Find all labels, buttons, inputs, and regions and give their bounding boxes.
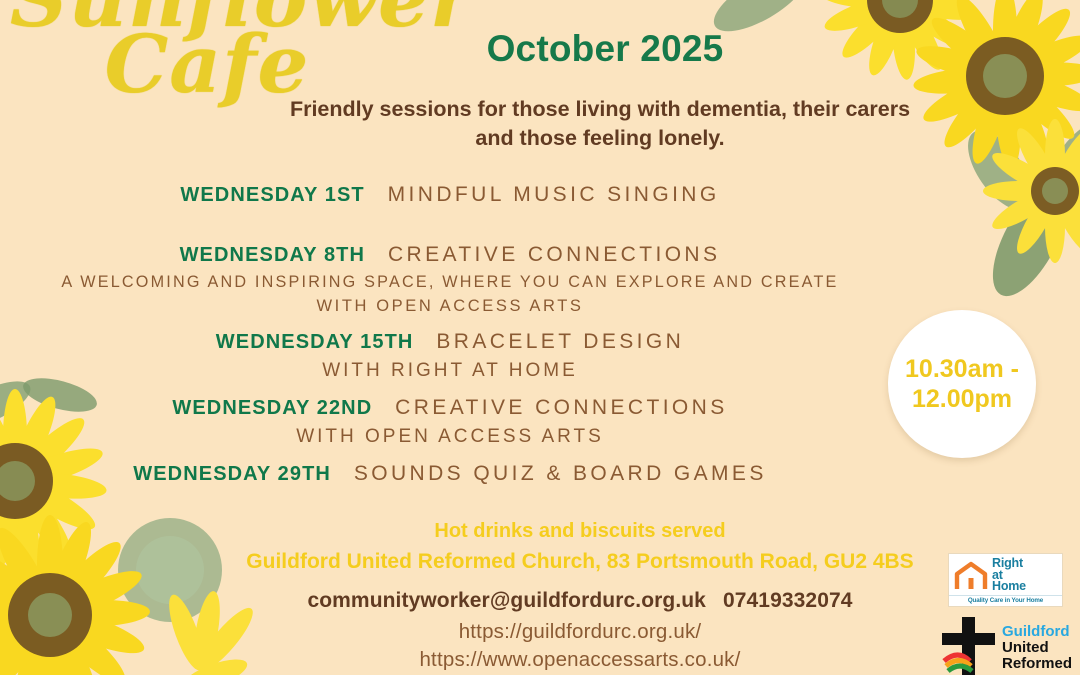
schedule-event: CREATIVE CONNECTIONS <box>388 243 720 266</box>
schedule-subline: WITH OPEN ACCESS ARTS <box>0 297 900 316</box>
urc-line-guildford: Guildford <box>1002 624 1072 640</box>
schedule-event: SOUNDS QUIZ & BOARD GAMES <box>354 462 767 485</box>
sunflower-bloom-b <box>912 0 1080 169</box>
contact-line: communityworker@guildfordurc.org.uk07419… <box>220 589 940 613</box>
schedule-item: WEDNESDAY 29TH SOUNDS QUIZ & BOARD GAMES <box>0 462 900 486</box>
schedule-headline: WEDNESDAY 15TH BRACELET DESIGN <box>0 330 900 354</box>
schedule-item: WEDNESDAY 15TH BRACELET DESIGN WITH RIGH… <box>0 330 900 382</box>
email-link[interactable]: communityworker@guildfordurc.org.uk <box>307 589 706 612</box>
schedule-item: WEDNESDAY 22ND CREATIVE CONNECTIONS WITH… <box>0 396 900 448</box>
schedule-headline: WEDNESDAY 1ST MINDFUL MUSIC SINGING <box>0 183 900 207</box>
urc-wordmark: Guildford United Reformed <box>1002 617 1072 672</box>
venue-address: Guildford United Reformed Church, 83 Por… <box>200 550 960 574</box>
schedule-event: MINDFUL MUSIC SINGING <box>388 183 720 206</box>
schedule-item: WEDNESDAY 1ST MINDFUL MUSIC SINGING <box>0 183 900 207</box>
schedule-day: WEDNESDAY 22ND <box>172 397 372 419</box>
schedule-headline: WEDNESDAY 22ND CREATIVE CONNECTIONS <box>0 396 900 420</box>
right-at-home-wordmark: Right at Home <box>992 558 1026 593</box>
time-line-1: 10.30am - <box>905 354 1019 385</box>
schedule-day: WEDNESDAY 29TH <box>133 463 331 485</box>
schedule-subline: WITH OPEN ACCESS ARTS <box>0 426 900 448</box>
schedule-item: WEDNESDAY 8TH CREATIVE CONNECTIONS A WEL… <box>0 243 900 316</box>
website-link-openaccessarts[interactable]: https://www.openaccessarts.co.uk/ <box>200 648 960 672</box>
website-link-urc[interactable]: https://guildfordurc.org.uk/ <box>200 620 960 644</box>
house-icon <box>954 561 988 591</box>
schedule-event: BRACELET DESIGN <box>436 330 684 353</box>
logo-guildford-urc: Guildford United Reformed <box>940 617 1080 675</box>
schedule-headline: WEDNESDAY 8TH CREATIVE CONNECTIONS <box>0 243 900 267</box>
schedule-day: WEDNESDAY 15TH <box>216 331 414 353</box>
schedule-headline: WEDNESDAY 29TH SOUNDS QUIZ & BOARD GAMES <box>0 462 900 486</box>
phone-number[interactable]: 07419332074 <box>723 589 853 612</box>
schedule-day: WEDNESDAY 1ST <box>180 184 364 206</box>
logo-right-at-home: Right at Home Quality Care in Your Home <box>948 553 1063 607</box>
month-heading: October 2025 <box>430 28 780 70</box>
session-time-badge: 10.30am - 12.00pm <box>888 310 1036 458</box>
tagline-text: Friendly sessions for those living with … <box>280 95 920 152</box>
urc-line-united: United <box>1002 640 1072 656</box>
page-title: Sunflower Cafe <box>10 0 440 97</box>
schedule-event: CREATIVE CONNECTIONS <box>395 396 727 419</box>
rah-word-home: Home <box>992 581 1026 593</box>
schedule-subline: WITH RIGHT AT HOME <box>0 360 900 382</box>
urc-line-reformed: Reformed <box>1002 656 1072 672</box>
sunflower-bloom-c <box>983 119 1080 263</box>
time-line-2: 12.00pm <box>912 384 1012 415</box>
cross-icon <box>940 617 998 675</box>
refreshments-note: Hot drinks and biscuits served <box>240 520 920 543</box>
schedule-subline: A WELCOMING AND INSPIRING SPACE, WHERE Y… <box>0 273 900 292</box>
poster-canvas: Sunflower Cafe October 2025 Friendly ses… <box>0 0 1080 675</box>
sunflower-bloom-a <box>819 0 980 81</box>
schedule-day: WEDNESDAY 8TH <box>180 244 365 266</box>
sunflower-bloom-e <box>0 515 150 675</box>
rah-tagline: Quality Care in Your Home <box>949 595 1062 604</box>
schedule-list: WEDNESDAY 1ST MINDFUL MUSIC SINGING WEDN… <box>0 183 900 486</box>
